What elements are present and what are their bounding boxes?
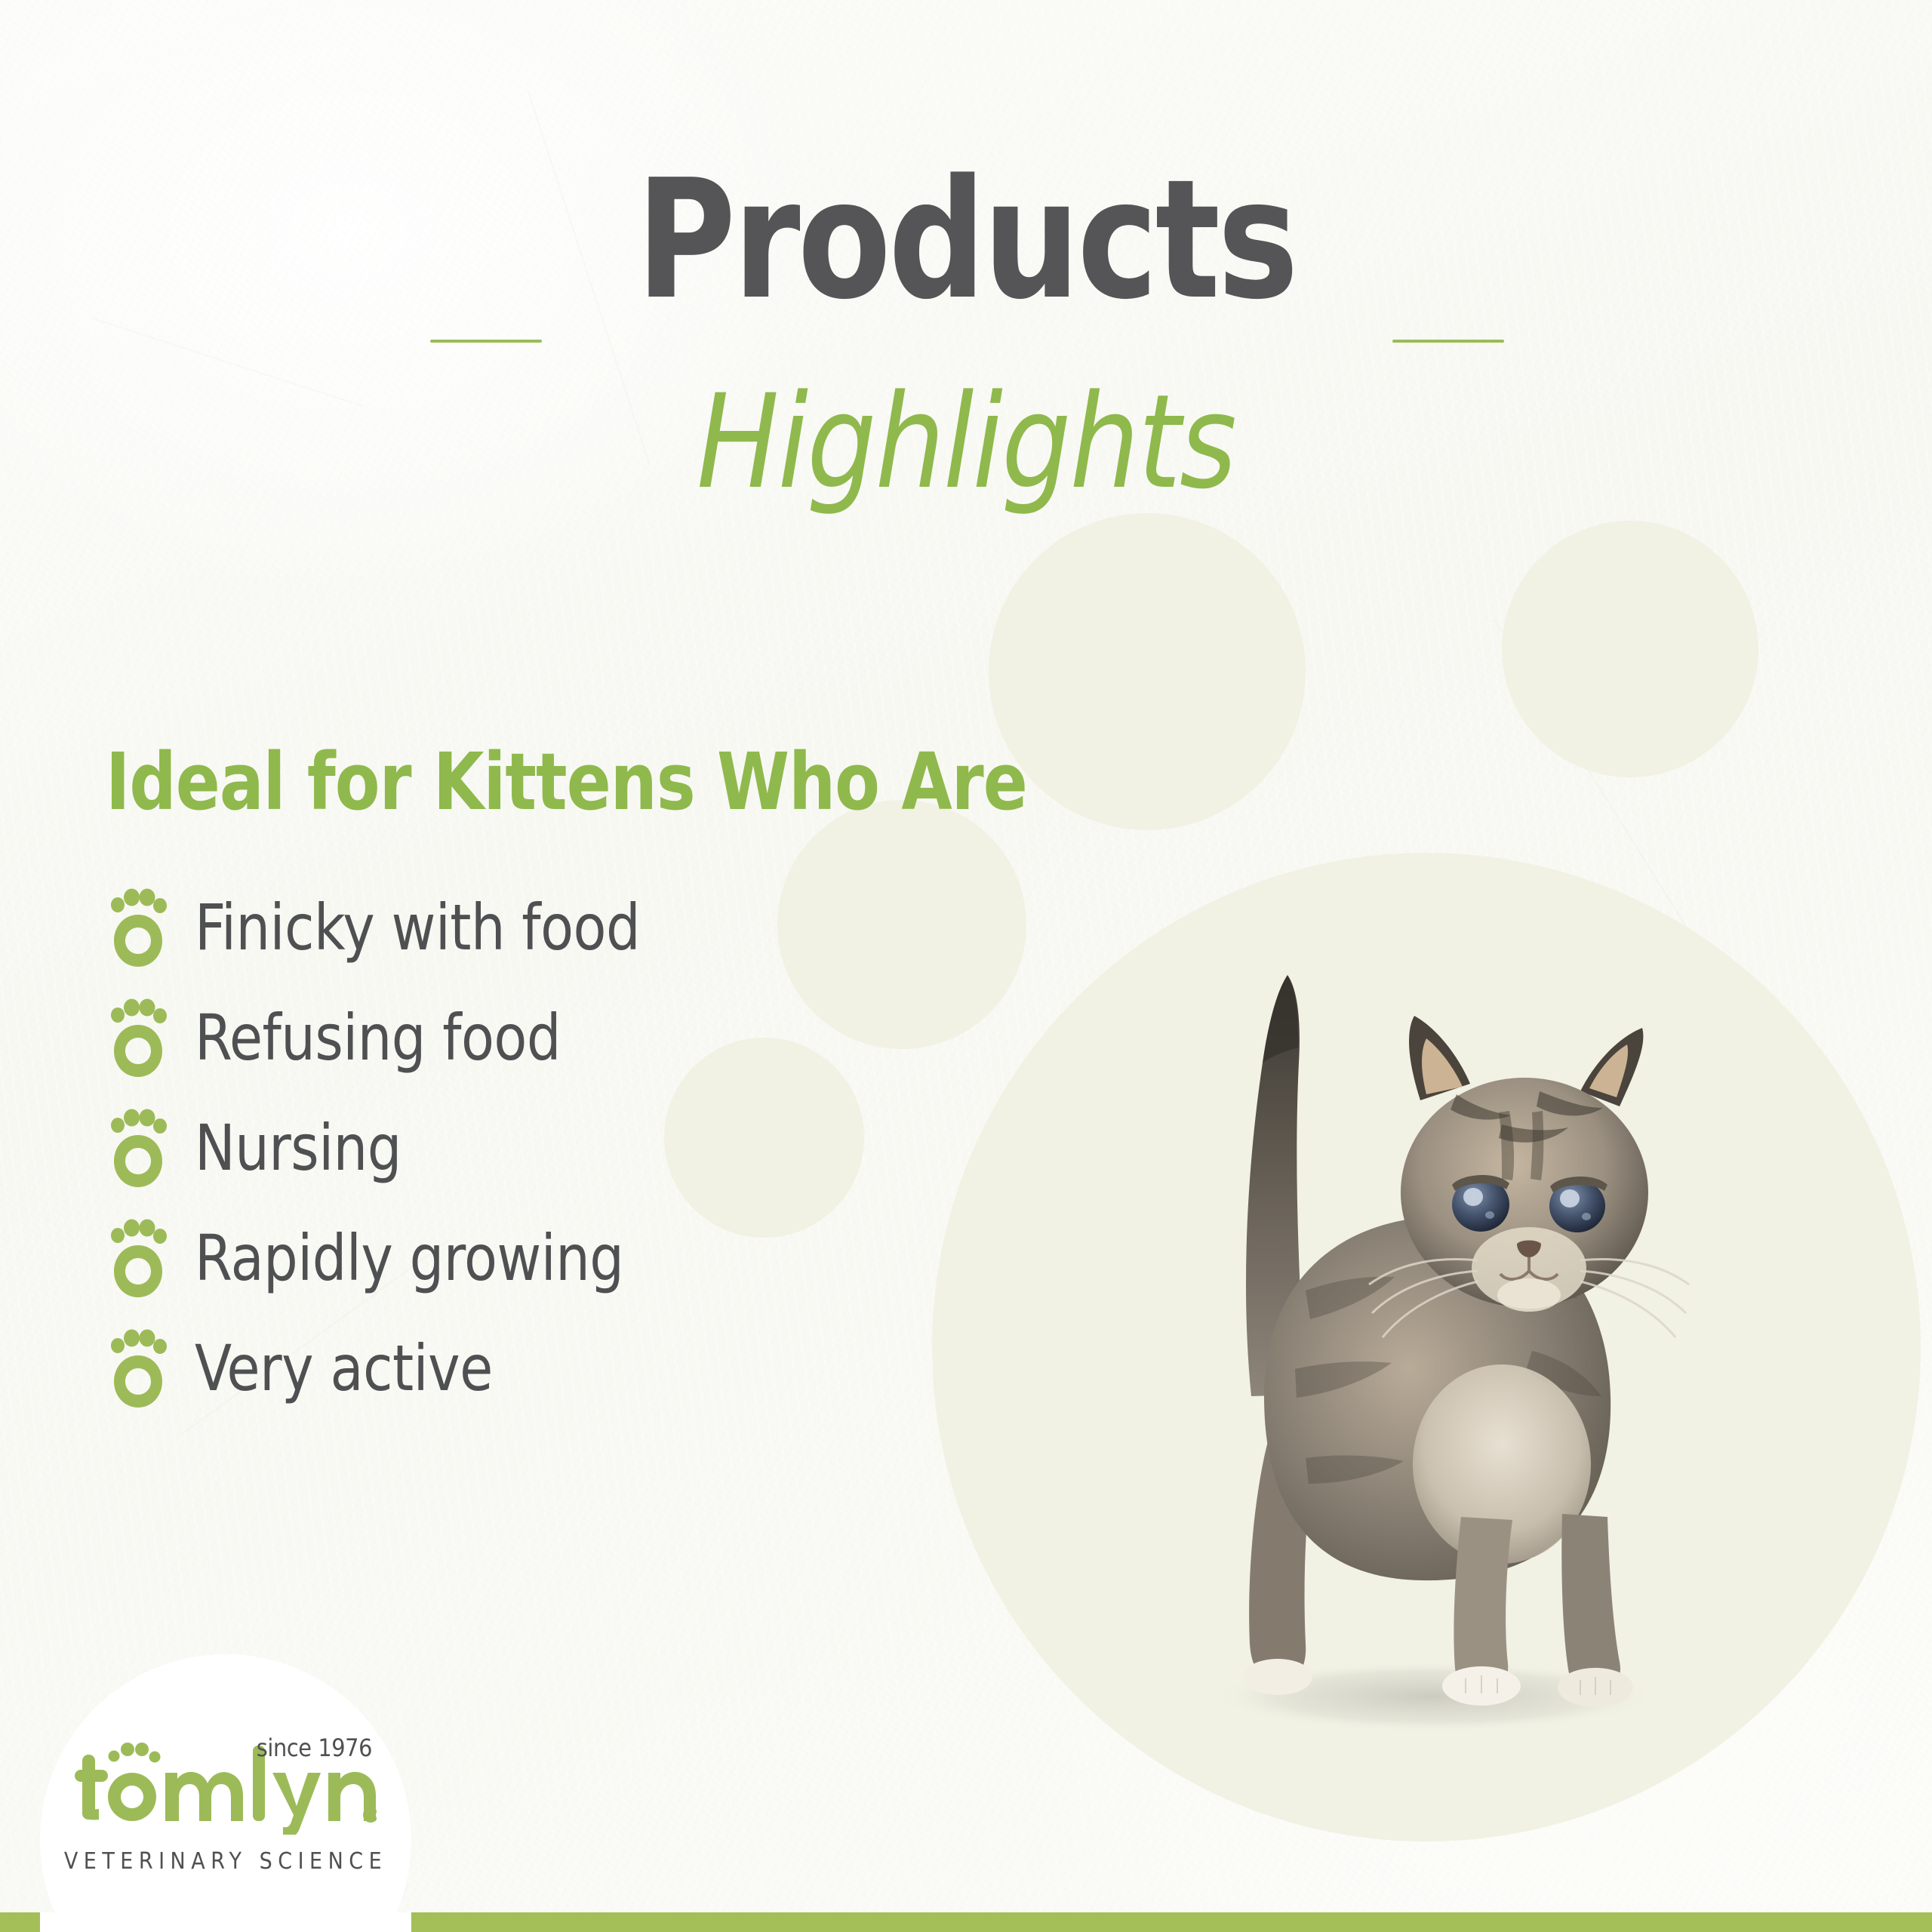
list-item: Very active [106,1313,1238,1423]
horizontal-rule-right-icon [1392,340,1504,343]
list-item-label: Finicky with food [195,896,640,959]
list-item-label: Rapidly growing [195,1226,623,1290]
decorative-circle [1502,521,1758,777]
main-content: Ideal for Kittens Who Are Finicky with [106,740,1238,1423]
paw-print-icon [109,888,168,967]
logo-wordmark: R since 1976 [75,1737,377,1835]
logo-since-label: since 1976 [257,1734,372,1762]
list-item-label: Very active [195,1337,493,1400]
svg-text:R: R [368,1811,374,1820]
bottom-bar-logo-notch [40,1912,411,1932]
logo-tagline: VETERINARY SCIENCE [64,1848,387,1875]
list-item: Rapidly growing [106,1203,1238,1313]
paw-print-icon [109,1329,168,1407]
paw-print-icon [109,998,168,1077]
page-subtitle: Highlights [58,377,1874,507]
benefits-list: Finicky with food Refusing food [106,872,1238,1423]
section-heading: Ideal for Kittens Who Are [106,740,1158,824]
list-item-label: Refusing food [195,1006,561,1069]
poster-canvas: Products Highlights Ideal for Kittens Wh… [0,0,1932,1932]
kitten-photo [1079,868,1743,1758]
paw-print-icon [109,1109,168,1187]
horizontal-rule-left-icon [430,340,542,343]
list-item: Finicky with food [106,872,1238,983]
list-item-label: Nursing [195,1116,401,1180]
brand-logo: R since 1976 VETERINARY SCIENCE [40,1654,411,1932]
list-item: Nursing [106,1093,1238,1203]
page-title: Products [77,158,1854,323]
list-item: Refusing food [106,983,1238,1093]
header: Products Highlights [0,189,1932,507]
title-row: Products [0,189,1932,362]
paw-print-icon [109,1219,168,1297]
